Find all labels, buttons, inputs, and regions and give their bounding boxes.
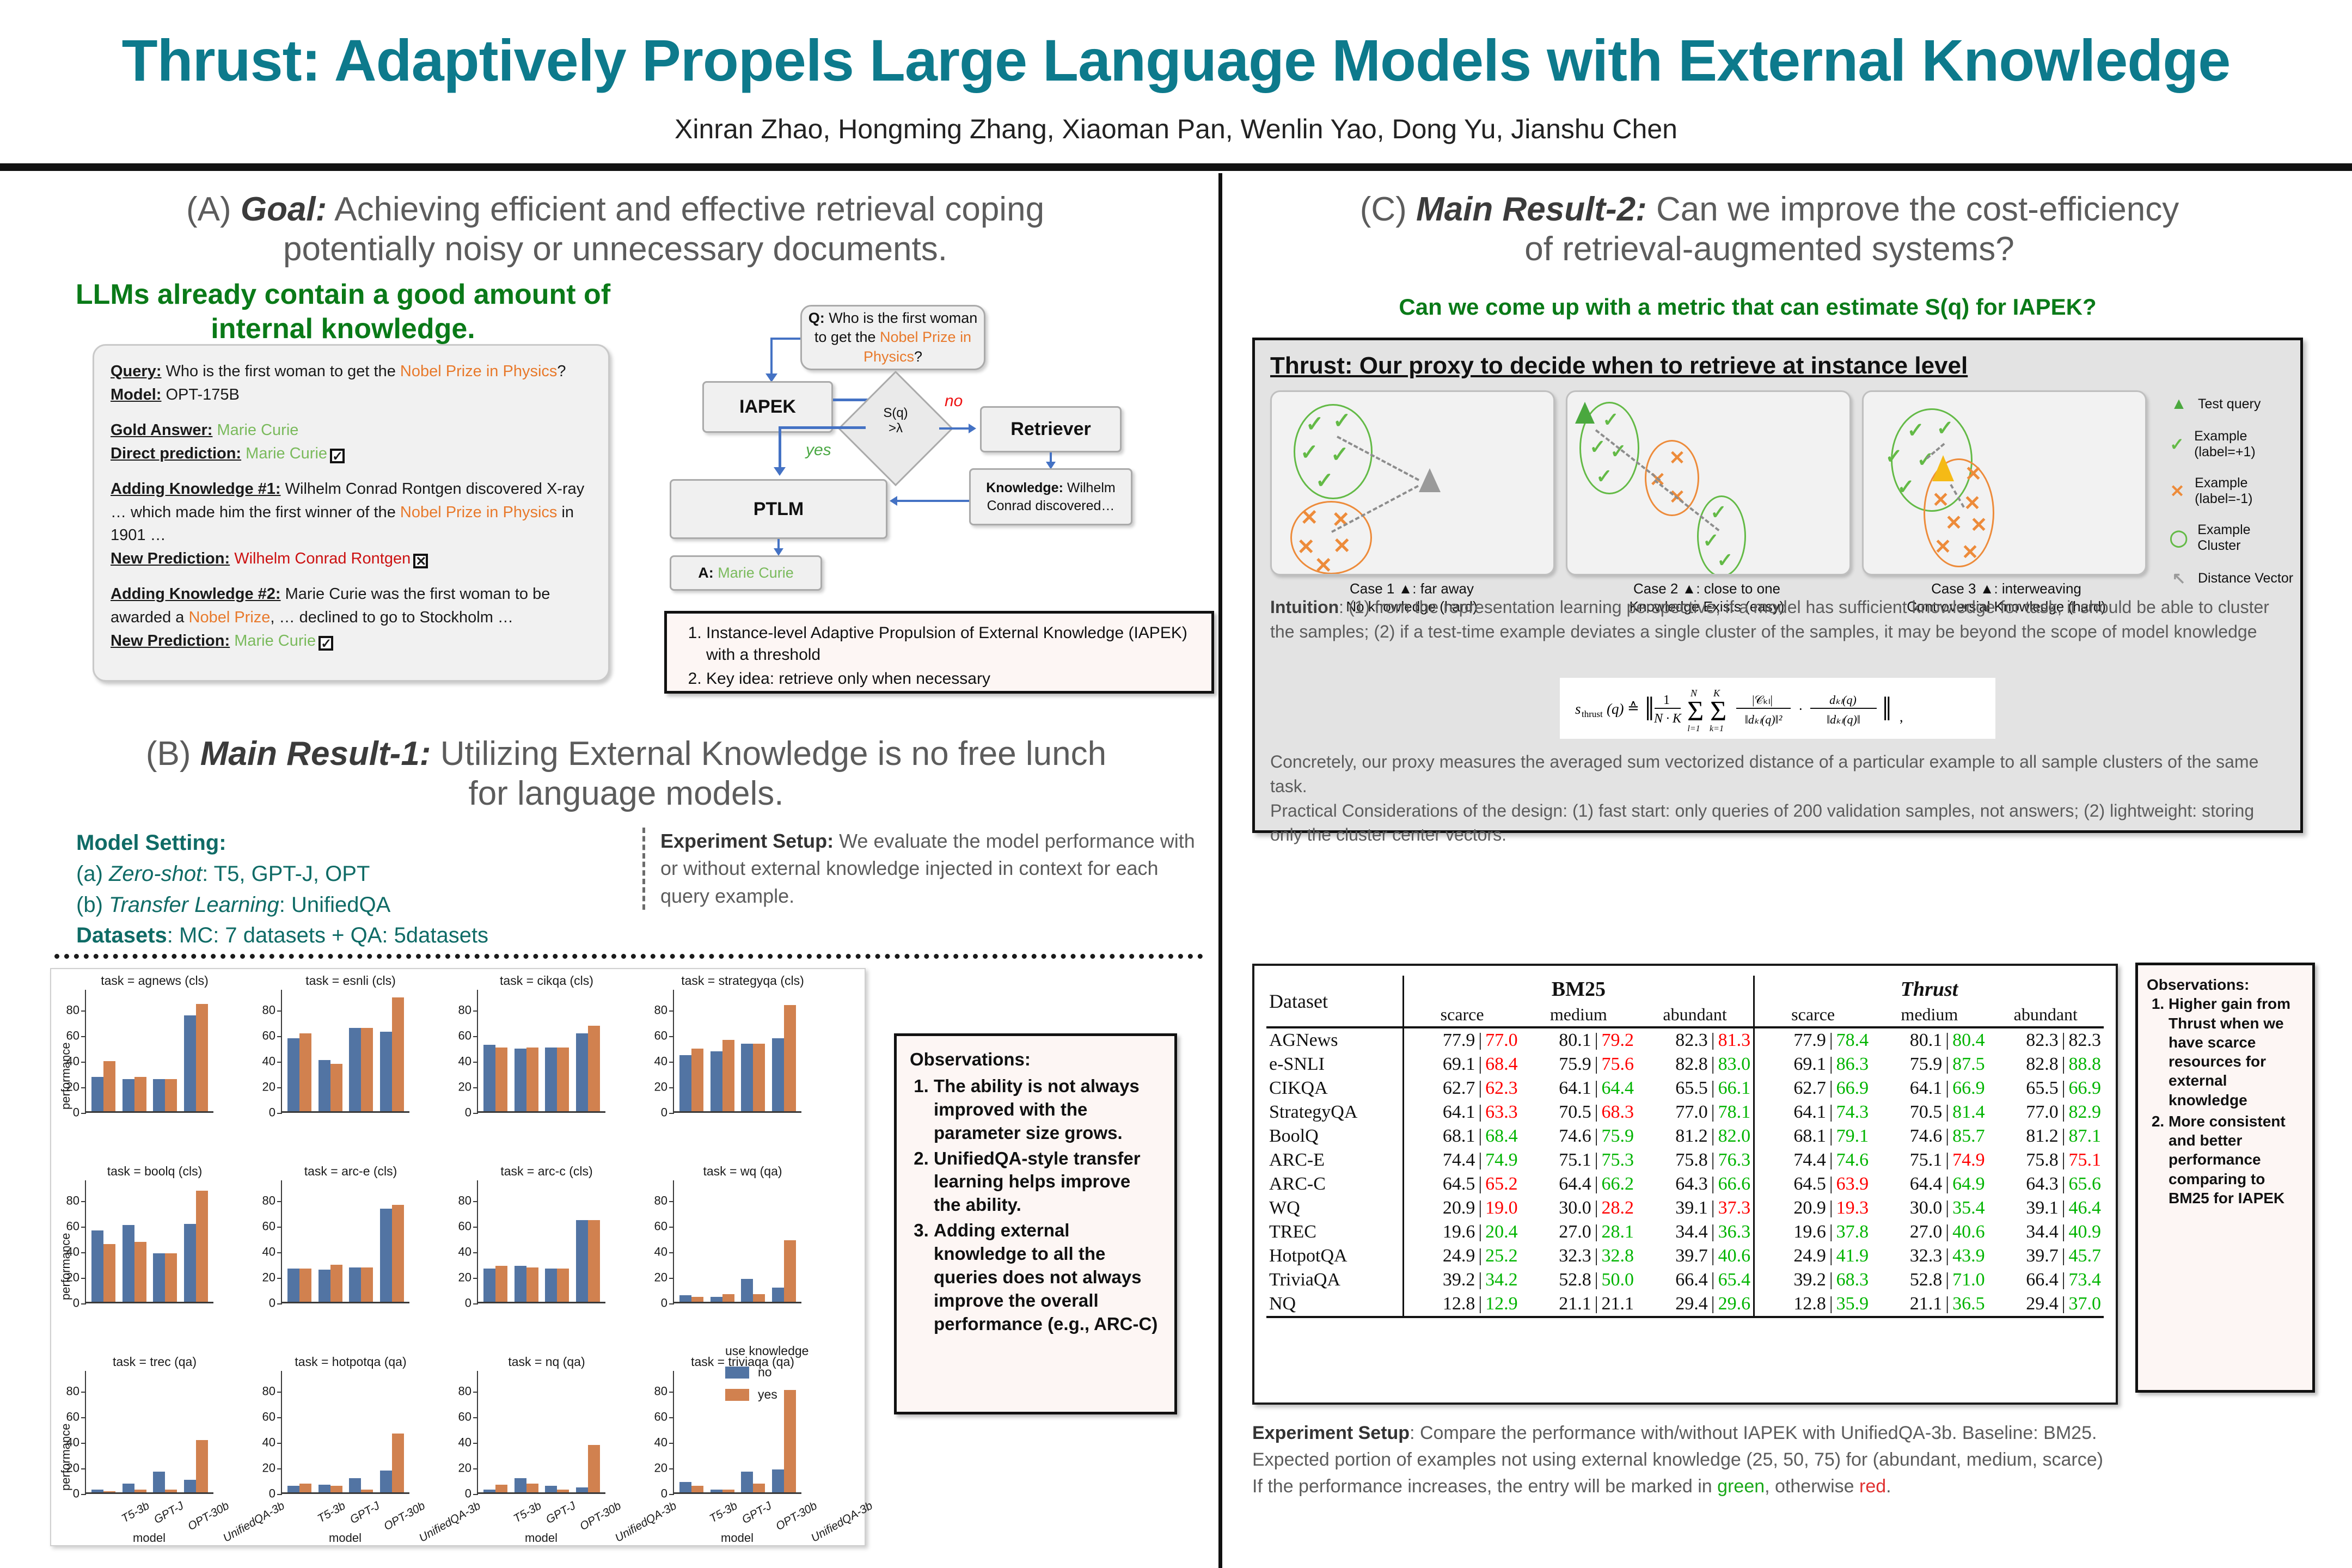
chart-panel-title: task = cikqa (cls) (449, 973, 645, 988)
cell-separator: | (1945, 1270, 1949, 1290)
cell-separator: | (2062, 1198, 2066, 1218)
bar-yes (526, 1267, 538, 1302)
cell-bm25-medium: 21.1|21.1 (1521, 1292, 1637, 1317)
y-tick-label: 80 (66, 1385, 79, 1399)
cell-separator: | (1711, 1246, 1715, 1266)
baseline-value: 20.9 (1793, 1198, 1826, 1218)
y-tick (277, 1036, 282, 1037)
model-setting-block: Model Setting: (a) Zero-shot: T5, GPT-J,… (76, 828, 626, 951)
bar-yes (103, 1061, 115, 1111)
table-row: StrategyQA64.1|63.370.5|68.377.0|78.164.… (1266, 1100, 2104, 1124)
distance-vector-icon: ↖ (2165, 569, 2192, 588)
chart-baseline (674, 1492, 801, 1494)
section-b-tag: (B) (146, 735, 191, 773)
model-setting-title: Model Setting (76, 831, 219, 855)
augmented-value: 63.3 (1485, 1102, 1518, 1122)
footer-red-word: red (1859, 1476, 1886, 1497)
svg-text:‖: ‖ (1645, 691, 1654, 728)
bar-yes (722, 1490, 734, 1492)
spacer (111, 571, 592, 583)
y-tick (81, 1392, 86, 1393)
baseline-value: 80.1 (1559, 1030, 1591, 1050)
knowledge2-label: Adding Knowledge #2: (111, 585, 281, 603)
baseline-value: 77.9 (1793, 1030, 1826, 1050)
augmented-value: 19.3 (1836, 1198, 1869, 1218)
augmented-value: 77.0 (1485, 1030, 1518, 1050)
bar-group (181, 1180, 212, 1302)
y-tick (277, 1392, 282, 1393)
y-tick (473, 1201, 478, 1202)
augmented-value: 75.9 (1602, 1126, 1634, 1146)
chart-bars (676, 1180, 799, 1302)
y-tick-label: 80 (66, 1194, 79, 1208)
chart-bars (480, 990, 603, 1111)
chart-baseline (674, 1111, 801, 1113)
chart-panel: task = cikqa (cls)020406080 (449, 973, 645, 1164)
augmented-value: 34.2 (1485, 1270, 1518, 1290)
cell-thrust-medium: 75.9|87.5 (1871, 1052, 1987, 1076)
check-icon: ✓ (2165, 434, 2189, 455)
model-b-rest: : UnifiedQA (279, 893, 391, 917)
cell-separator: | (1711, 1174, 1715, 1194)
baseline-value: 75.8 (1675, 1150, 1708, 1170)
bar-yes (392, 997, 404, 1111)
footer-line3-c: . (1886, 1476, 1891, 1497)
x-tick-label: GPT-J (740, 1499, 774, 1527)
cell-thrust-medium: 52.8|71.0 (1871, 1268, 1987, 1292)
y-tick (81, 1443, 86, 1444)
chart-baseline (86, 1492, 213, 1494)
cell-thrust-abundant: 39.1|46.4 (1988, 1196, 2104, 1220)
bar-no (710, 1490, 722, 1492)
bar-no (772, 1469, 784, 1492)
example-knowledge1-row: Adding Knowledge #1: Wilhelm Conrad Ront… (111, 477, 592, 548)
baseline-value: 62.7 (1793, 1078, 1826, 1098)
x-tick-label: GPT-J (544, 1499, 578, 1527)
cell-bm25-abundant: 39.1|37.3 (1637, 1196, 1754, 1220)
cell-separator: | (1595, 1246, 1598, 1266)
section-b-heading: (B) Main Result-1: Utilizing External Kn… (54, 734, 1198, 813)
cell-bm25-scarce: 69.1|68.4 (1403, 1052, 1521, 1076)
bar-yes (557, 1048, 569, 1111)
bar-group (377, 1371, 408, 1492)
bar-no (122, 1484, 134, 1492)
svg-text:‖dₖₗ(q)‖: ‖dₖₗ(q)‖ (1827, 713, 1860, 726)
y-tick (669, 1303, 674, 1304)
bar-group (150, 990, 181, 1111)
cell-bm25-scarce: 62.7|62.3 (1403, 1076, 1521, 1100)
augmented-value: 37.0 (2069, 1294, 2102, 1314)
iapek-flowchart: Q: Who is the first woman to get the Nob… (648, 305, 1214, 593)
bar-yes (361, 1490, 373, 1492)
section-a-label: Goal: (241, 191, 327, 228)
augmented-value: 76.3 (1718, 1150, 1751, 1170)
cell-separator: | (1478, 1102, 1482, 1122)
y-tick (669, 1392, 674, 1393)
section-a-line1: Achieving efficient and effective retrie… (334, 191, 1044, 228)
bar-group (346, 1371, 377, 1492)
augmented-value: 66.6 (1718, 1174, 1751, 1194)
flow-answer-box: A: Marie Curie (670, 555, 822, 591)
cell-thrust-medium: 32.3|43.9 (1871, 1244, 1987, 1268)
bar-yes (330, 1486, 342, 1492)
x-tick-label: OPT-30b (774, 1499, 819, 1533)
green-note-line2: internal knowledge. (211, 313, 475, 345)
baseline-value: 34.4 (2026, 1222, 2059, 1242)
baseline-value: 75.9 (1559, 1054, 1591, 1074)
augmented-value: 20.4 (1485, 1222, 1518, 1242)
row-label: HotpotQA (1266, 1244, 1403, 1268)
y-tick (81, 1227, 86, 1228)
y-tick-label: 40 (458, 1055, 471, 1069)
table-row: HotpotQA24.9|25.232.3|32.839.7|40.624.9|… (1266, 1244, 2104, 1268)
y-tick-label: 0 (465, 1486, 471, 1500)
baseline-value: 64.5 (1443, 1174, 1475, 1194)
bar-yes (165, 1253, 177, 1302)
cell-separator: | (1829, 1150, 1833, 1170)
bar-group (181, 990, 212, 1111)
augmented-value: 88.8 (2069, 1054, 2102, 1074)
chart-panel: task = hotpotqa (qa)020406080T5-3bGPT-JO… (253, 1355, 449, 1545)
x-axis-title: model (281, 1531, 409, 1545)
cross-icon: ✕ (1297, 535, 1315, 560)
bar-no (545, 1269, 557, 1302)
baseline-value: 81.2 (1675, 1126, 1708, 1146)
augmented-value: 28.2 (1602, 1198, 1634, 1218)
check-icon: ✓ (1602, 408, 1619, 431)
y-tick (669, 1443, 674, 1444)
cell-bm25-medium: 64.4|66.2 (1521, 1172, 1637, 1196)
cell-thrust-abundant: 82.3|82.3 (1988, 1027, 2104, 1052)
chart-plot-area: 020406080 (85, 990, 213, 1113)
y-tick-label: 60 (654, 1410, 667, 1424)
cell-separator: | (1711, 1270, 1715, 1290)
cell-bm25-medium: 75.9|75.6 (1521, 1052, 1637, 1076)
chart-baseline (478, 1492, 605, 1494)
chart-panel-title: task = strategyqa (cls) (645, 973, 841, 988)
cell-separator: | (2062, 1174, 2066, 1194)
y-tick-label: 60 (458, 1029, 471, 1043)
bar-yes (722, 1294, 734, 1302)
cell-thrust-abundant: 81.2|87.1 (1988, 1124, 2104, 1148)
chart-bars (284, 1180, 407, 1302)
cell-bm25-scarce: 19.6|20.4 (1403, 1220, 1521, 1244)
results-table-card: DatasetBM25Thrustscarcemediumabundantsca… (1252, 964, 2118, 1405)
cell-separator: | (2062, 1054, 2066, 1074)
flow-knowledge-label: Knowledge: (986, 480, 1063, 495)
augmented-value: 37.3 (1718, 1198, 1751, 1218)
cell-separator: | (1711, 1126, 1715, 1146)
new-prediction2-label: New Prediction: (111, 632, 230, 650)
cell-separator: | (1595, 1030, 1598, 1050)
bar-no (710, 1051, 722, 1111)
cell-separator: | (1478, 1270, 1482, 1290)
cell-separator: | (1945, 1150, 1949, 1170)
svg-text:s: s (1575, 701, 1581, 717)
cell-bm25-medium: 52.8|50.0 (1521, 1268, 1637, 1292)
cell-thrust-medium: 64.4|64.9 (1871, 1172, 1987, 1196)
flow-ptlm-box: PTLM (670, 479, 887, 539)
decision-line2: >λ (855, 421, 936, 436)
section-b-dotted-rule (54, 954, 1203, 959)
legend-row: ▲ Test query (2165, 395, 2296, 413)
baseline-value: 75.8 (2026, 1150, 2059, 1170)
legend-label: Test query (2198, 396, 2261, 412)
y-tick-label: 20 (458, 1080, 471, 1094)
check-icon: ✓ (1315, 468, 1334, 493)
bar-yes (588, 1026, 600, 1111)
baseline-value: 39.1 (2026, 1198, 2059, 1218)
cell-thrust-scarce: 62.7|66.9 (1754, 1076, 1872, 1100)
bar-yes (103, 1491, 115, 1492)
chart-panel-title: task = trec (qa) (57, 1355, 253, 1369)
cell-separator: | (1945, 1198, 1949, 1218)
bar-group (315, 1180, 346, 1302)
svg-text:thrust: thrust (1582, 709, 1603, 719)
cell-bm25-medium: 30.0|28.2 (1521, 1196, 1637, 1220)
cross-icon: ✕ (1934, 535, 1952, 559)
cell-thrust-abundant: 34.4|40.9 (1988, 1220, 2104, 1244)
flow-answer-value: Marie Curie (718, 565, 794, 581)
cell-separator: | (1478, 1126, 1482, 1146)
bar-yes (330, 1265, 342, 1302)
y-tick (473, 1494, 478, 1495)
cell-separator: | (1478, 1150, 1482, 1170)
baseline-value: 39.2 (1443, 1270, 1475, 1290)
bar-group (480, 990, 511, 1111)
y-axis-label: performance (59, 1423, 73, 1491)
augmented-value: 79.2 (1602, 1030, 1634, 1050)
baseline-value: 64.1 (1559, 1078, 1591, 1098)
cell-separator: | (1829, 1030, 1833, 1050)
table-row: TREC19.6|20.427.0|28.134.4|36.319.6|37.8… (1266, 1220, 2104, 1244)
augmented-value: 66.9 (1836, 1078, 1869, 1098)
y-tick (669, 1036, 674, 1037)
bar-no (679, 1482, 691, 1492)
experiment-setup-footer: Experiment Setup: Compare the performanc… (1252, 1420, 2303, 1500)
cell-separator: | (2062, 1126, 2066, 1146)
augmented-value: 65.6 (2069, 1174, 2102, 1194)
cell-separator: | (1945, 1174, 1949, 1194)
chart-baseline (282, 1492, 409, 1494)
direct-prediction-value: Marie Curie (246, 445, 327, 462)
y-tick-label: 80 (262, 1003, 275, 1018)
cell-thrust-scarce: 68.1|79.1 (1754, 1124, 1872, 1148)
table-row: ARC-C64.5|65.264.4|66.264.3|66.664.5|63.… (1266, 1172, 2104, 1196)
cell-separator: | (1478, 1078, 1482, 1098)
x-tick-label: OPT-30b (578, 1499, 623, 1533)
cell-bm25-abundant: 65.5|66.1 (1637, 1076, 1754, 1100)
cell-bm25-abundant: 64.3|66.6 (1637, 1172, 1754, 1196)
cross-icon: ✕ (1932, 488, 1950, 512)
cell-bm25-medium: 64.1|64.4 (1521, 1076, 1637, 1100)
bar-group (511, 990, 542, 1111)
y-tick-label: 20 (262, 1271, 275, 1285)
y-tick-label: 80 (654, 1003, 667, 1018)
chart-panel-title: task = arc-c (cls) (449, 1164, 645, 1179)
bar-yes (103, 1244, 115, 1302)
y-tick-label: 0 (73, 1486, 79, 1500)
checkmark-icon: ✓ (330, 449, 345, 463)
section-a-tag: (A) (186, 191, 231, 228)
cell-separator: | (2062, 1030, 2066, 1050)
bar-yes (392, 1434, 404, 1492)
flow-arrow-knowledge-left (897, 500, 969, 502)
augmented-value: 75.1 (2069, 1150, 2102, 1170)
baseline-value: 82.8 (1675, 1054, 1708, 1074)
augmented-value: 79.1 (1836, 1126, 1869, 1146)
cell-separator: | (1595, 1294, 1598, 1314)
intuition-body: : (1) from the representation learning p… (1270, 597, 2269, 641)
bar-no (483, 1045, 495, 1111)
bar-group (511, 1371, 542, 1492)
cell-separator: | (1595, 1150, 1598, 1170)
flow-arrow-yes (779, 426, 866, 429)
augmented-value: 66.9 (2069, 1078, 2102, 1098)
chart-bars (88, 1371, 211, 1492)
augmented-value: 43.9 (1952, 1246, 1985, 1266)
chart-bars (480, 1180, 603, 1302)
y-tick-label: 20 (262, 1080, 275, 1094)
baseline-value: 32.3 (1559, 1246, 1591, 1266)
observation-item: Higher gain from Thrust when we have sca… (2169, 994, 2304, 1110)
section-c-line2: of retrieval-augmented systems? (1524, 230, 2014, 268)
y-tick-label: 80 (262, 1194, 275, 1208)
footer-line3-b: , otherwise (1765, 1476, 1859, 1497)
model-setting-colon: : (219, 831, 226, 855)
section-c-label: Main Result-2: (1416, 191, 1647, 228)
column-header-dataset: Dataset (1266, 976, 1403, 1027)
footer-line2: Expected portion of examples not using e… (1252, 1449, 2103, 1470)
y-tick-label: 80 (458, 1194, 471, 1208)
y-tick (669, 1062, 674, 1063)
y-tick-label: 0 (661, 1486, 667, 1500)
poster-header: Thrust: Adaptively Propels Large Languag… (0, 0, 2352, 163)
bar-no (153, 1079, 165, 1111)
bar-no (741, 1472, 753, 1492)
chart-panel: task = trec (qa)020406080performanceT5-3… (57, 1355, 253, 1545)
flow-yes-label: yes (806, 441, 831, 460)
y-tick-label: 80 (654, 1194, 667, 1208)
experiment-setup-title: Experiment Setup (660, 830, 827, 852)
cell-separator: | (1829, 1246, 1833, 1266)
flow-arrowhead-answer (774, 548, 783, 556)
chart-bars (88, 1180, 211, 1302)
augmented-value: 40.6 (1718, 1246, 1751, 1266)
augmented-value: 75.6 (1602, 1054, 1634, 1074)
bar-group (676, 1180, 707, 1302)
column-header-abundant: abundant (1637, 1003, 1754, 1027)
x-tick-label: OPT-30b (186, 1499, 231, 1533)
y-tick-label: 0 (661, 1296, 667, 1310)
chart-panel: task = arc-c (cls)020406080 (449, 1164, 645, 1355)
cell-thrust-abundant: 39.7|45.7 (1988, 1244, 2104, 1268)
concrete-text: Concretely, our proxy measures the avera… (1270, 750, 2288, 847)
thrust-formula-svg: s thrust (q) ≙ ‖ 1 N · K Σ N l=1 Σ K k=1… (1571, 681, 1984, 736)
augmented-value: 81.4 (1952, 1102, 1985, 1122)
row-label: BoolQ (1266, 1124, 1403, 1148)
bar-no (380, 1471, 392, 1492)
column-header-scarce: scarce (1403, 1003, 1521, 1027)
augmented-value: 87.1 (2069, 1126, 2102, 1146)
y-tick (473, 1392, 478, 1393)
bar-yes (134, 1490, 146, 1492)
knowledge1-highlight: Nobel Prize in Physics (400, 504, 558, 521)
cell-separator: | (1945, 1222, 1949, 1242)
legend-label: Example Cluster (2197, 522, 2296, 554)
bar-no (514, 1266, 526, 1302)
table-row: BoolQ68.1|68.474.6|75.981.2|82.068.1|79.… (1266, 1124, 2104, 1148)
cross-icon: ✕ (1300, 505, 1319, 530)
y-tick (81, 1087, 86, 1088)
augmented-value: 73.4 (2069, 1270, 2102, 1290)
y-tick-label: 20 (262, 1461, 275, 1475)
cell-separator: | (2062, 1270, 2066, 1290)
svg-text:(q): (q) (1607, 701, 1624, 717)
cell-separator: | (1945, 1102, 1949, 1122)
cell-separator: | (1711, 1078, 1715, 1098)
case-3-box: ✓ ✓ ✓ ✓ ✓ ✕ ✕ ✕ ✕ ✕ ✕ ✕ (1862, 390, 2147, 575)
flow-arrow-no (939, 427, 971, 430)
chart-baseline (282, 1111, 409, 1113)
svg-text:≙: ≙ (1627, 700, 1639, 716)
cell-separator: | (1945, 1294, 1949, 1314)
bar-group (88, 1371, 119, 1492)
bar-group (119, 990, 150, 1111)
row-label: ARC-C (1266, 1172, 1403, 1196)
model-a-rest: : T5, GPT-J, OPT (202, 862, 370, 886)
bar-no (545, 1486, 557, 1492)
chart-panel-title: task = nq (qa) (449, 1355, 645, 1369)
y-tick (277, 1113, 282, 1114)
new-prediction1-label: New Prediction: (111, 550, 230, 567)
table-header-row: DatasetBM25Thrust (1266, 976, 2104, 1003)
y-tick-label: 20 (654, 1271, 667, 1285)
model-setting-title-row: Model Setting: (76, 828, 626, 859)
column-header-medium: medium (1871, 1003, 1987, 1027)
bar-no (318, 1060, 330, 1111)
y-tick-label: 20 (654, 1080, 667, 1094)
y-tick (277, 1494, 282, 1495)
y-tick (277, 1062, 282, 1063)
bar-yes (784, 1240, 796, 1302)
model-b-italic: Transfer Learning (109, 893, 279, 917)
chart-baseline (86, 1302, 213, 1303)
legend-row: ✕ Example (label=-1) (2165, 475, 2296, 507)
flow-no-label: no (945, 392, 963, 411)
gold-answer-label: Gold Answer: (111, 421, 212, 439)
augmented-value: 66.1 (1718, 1078, 1751, 1098)
bar-no (91, 1230, 103, 1302)
bar-no (349, 1267, 361, 1302)
cell-thrust-medium: 74.6|85.7 (1871, 1124, 1987, 1148)
y-tick (277, 1278, 282, 1279)
augmented-value: 78.1 (1718, 1102, 1751, 1122)
bar-group (346, 990, 377, 1111)
y-tick (81, 1278, 86, 1279)
baseline-value: 32.3 (1910, 1246, 1943, 1266)
augmented-value: 82.0 (1718, 1126, 1751, 1146)
cell-separator: | (1829, 1102, 1833, 1122)
y-tick (473, 1252, 478, 1253)
query-highlight: Nobel Prize in Physics (400, 363, 558, 380)
y-tick-label: 40 (262, 1055, 275, 1069)
new-prediction2-value: Marie Curie (234, 632, 316, 650)
row-label: e-SNLI (1266, 1052, 1403, 1076)
results-table: DatasetBM25Thrustscarcemediumabundantsca… (1266, 976, 2104, 1318)
cell-thrust-medium: 21.1|36.5 (1871, 1292, 1987, 1317)
y-tick-label: 40 (262, 1436, 275, 1450)
